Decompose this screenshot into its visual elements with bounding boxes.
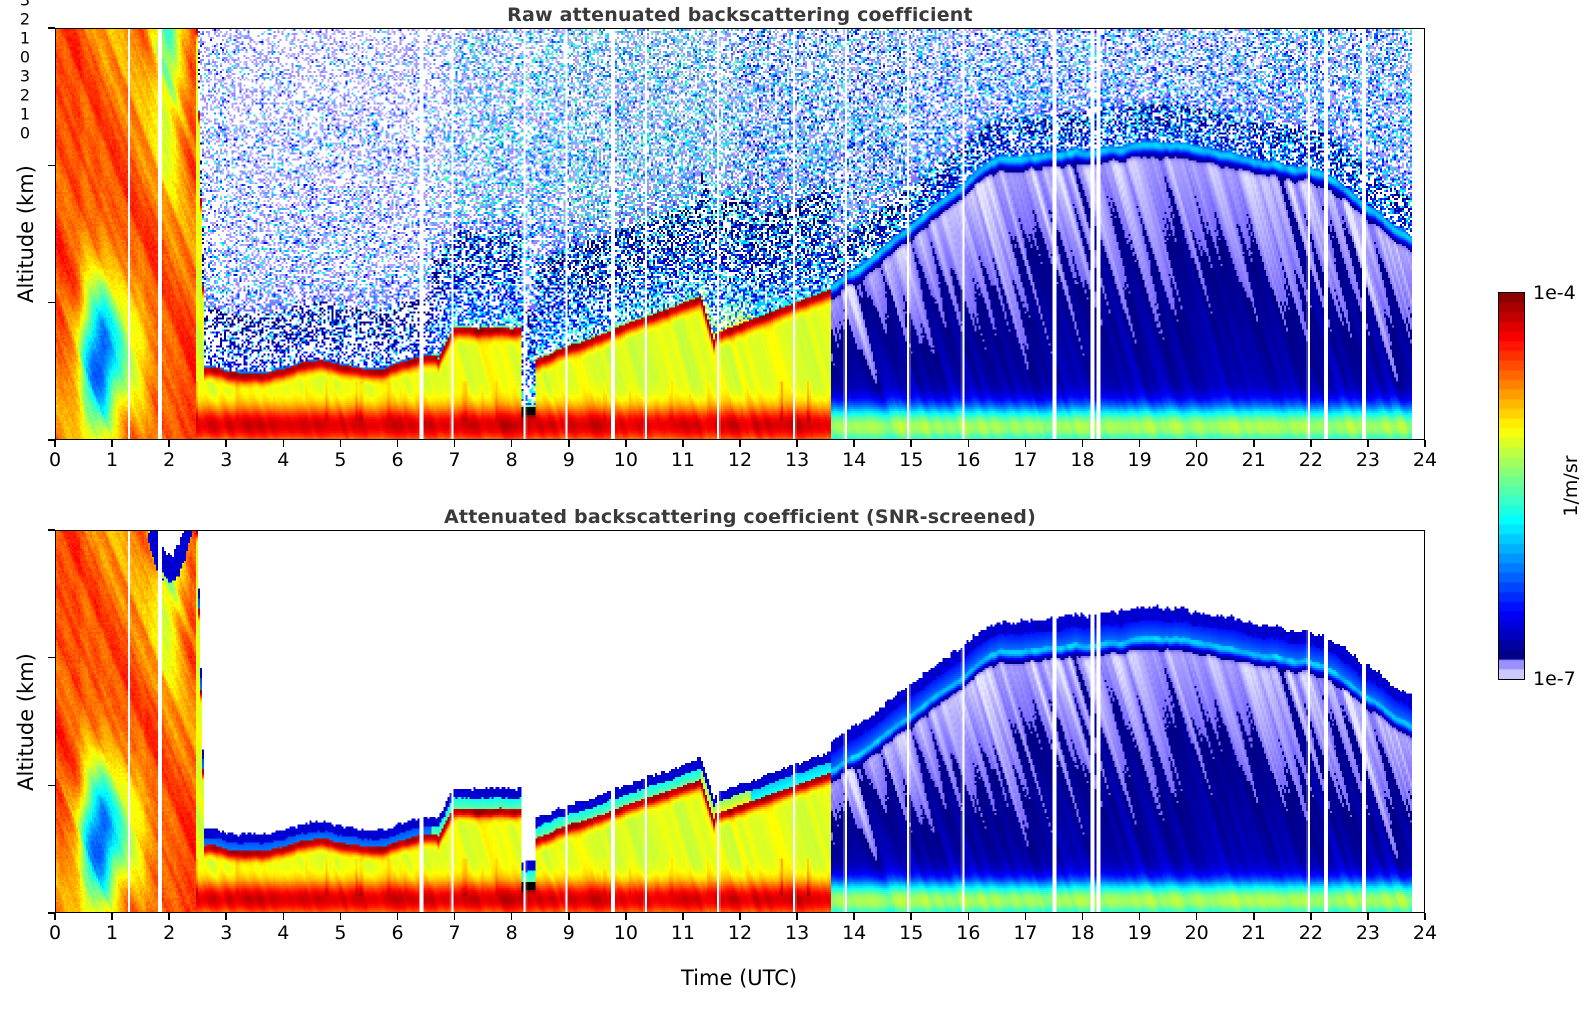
colorbar — [1498, 292, 1525, 680]
raw-xtick-9: 9 — [563, 449, 575, 471]
raw-xtickmark — [511, 440, 513, 447]
raw-xtick-24: 24 — [1413, 449, 1437, 471]
screened-xtickmark — [739, 913, 741, 920]
screened-xtickmark — [1424, 913, 1426, 920]
screened-ytickmark — [48, 657, 55, 659]
screened-xtickmark — [283, 913, 285, 920]
screened-ytick-2: 2 — [0, 86, 30, 105]
raw-xtick-15: 15 — [899, 449, 923, 471]
raw-ytick-3: 3 — [0, 0, 30, 10]
screened-xtickmark — [225, 913, 227, 920]
lidar-backscatter-figure: Raw attenuated backscattering coefficien… — [0, 0, 1595, 1020]
raw-xtickmark — [796, 440, 798, 447]
raw-panel-title: Raw attenuated backscattering coefficien… — [55, 4, 1425, 26]
screened-xtickmark — [625, 913, 627, 920]
raw-xtick-12: 12 — [728, 449, 752, 471]
raw-xtickmark — [568, 440, 570, 447]
screened-xtick-10: 10 — [614, 922, 638, 944]
screened-xtick-5: 5 — [334, 922, 346, 944]
raw-xtickmark — [168, 440, 170, 447]
screened-xtick-19: 19 — [1127, 922, 1151, 944]
raw-xtickmark — [225, 440, 227, 447]
screened-ytick-3: 3 — [0, 67, 30, 86]
screened-xtick-21: 21 — [1242, 922, 1266, 944]
raw-ytick-2: 2 — [0, 10, 30, 29]
raw-xtick-21: 21 — [1242, 449, 1266, 471]
screened-xtick-12: 12 — [728, 922, 752, 944]
screened-xtick-1: 1 — [106, 922, 118, 944]
raw-ytick-0: 0 — [0, 48, 30, 67]
colorbar-max-label: 1e-4 — [1533, 282, 1576, 304]
raw-xtickmark — [853, 440, 855, 447]
raw-xtick-10: 10 — [614, 449, 638, 471]
screened-xtick-23: 23 — [1356, 922, 1380, 944]
raw-xtick-3: 3 — [220, 449, 232, 471]
raw-xtickmark — [1139, 440, 1141, 447]
raw-xtickmark — [397, 440, 399, 447]
screened-panel-heatmap — [56, 531, 1424, 912]
screened-xtick-0: 0 — [49, 922, 61, 944]
raw-ytick-1: 1 — [0, 29, 30, 48]
raw-xtick-13: 13 — [785, 449, 809, 471]
screened-xtick-13: 13 — [785, 922, 809, 944]
raw-xtickmark — [910, 440, 912, 447]
screened-xtickmark — [853, 913, 855, 920]
raw-xtickmark — [340, 440, 342, 447]
raw-xtickmark — [1196, 440, 1198, 447]
screened-panel-axes — [55, 530, 1425, 913]
screened-xtick-22: 22 — [1299, 922, 1323, 944]
raw-xtickmark — [1082, 440, 1084, 447]
screened-ytick-1: 1 — [0, 105, 30, 124]
raw-xtickmark — [1310, 440, 1312, 447]
raw-xtickmark — [283, 440, 285, 447]
screened-xtick-4: 4 — [277, 922, 289, 944]
screened-xtick-11: 11 — [671, 922, 695, 944]
raw-panel-axes — [55, 28, 1425, 440]
screened-xtickmark — [682, 913, 684, 920]
screened-xtickmark — [340, 913, 342, 920]
screened-xtick-3: 3 — [220, 922, 232, 944]
screened-xtick-20: 20 — [1185, 922, 1209, 944]
screened-xtick-17: 17 — [1013, 922, 1037, 944]
raw-xtickmark — [1253, 440, 1255, 447]
screened-xtickmark — [111, 913, 113, 920]
raw-ytickmark — [48, 302, 55, 304]
screened-xtickmark — [1139, 913, 1141, 920]
screened-xtick-24: 24 — [1413, 922, 1437, 944]
colorbar-min-label: 1e-7 — [1533, 668, 1576, 690]
screened-xtickmark — [1367, 913, 1369, 920]
raw-panel-heatmap — [56, 29, 1424, 439]
raw-ytickmark — [48, 165, 55, 167]
screened-xtick-15: 15 — [899, 922, 923, 944]
screened-panel-ylabel: Altitude (km) — [14, 653, 38, 791]
screened-xtick-9: 9 — [563, 922, 575, 944]
screened-xtickmark — [1025, 913, 1027, 920]
screened-xtick-18: 18 — [1070, 922, 1094, 944]
screened-xtickmark — [511, 913, 513, 920]
screened-xtickmark — [1196, 913, 1198, 920]
raw-xtick-20: 20 — [1185, 449, 1209, 471]
raw-xtick-7: 7 — [449, 449, 461, 471]
raw-xtickmark — [111, 440, 113, 447]
raw-xtickmark — [1424, 440, 1426, 447]
raw-xtickmark — [739, 440, 741, 447]
screened-xtickmark — [1082, 913, 1084, 920]
raw-xtickmark — [968, 440, 970, 447]
screened-xtickmark — [910, 913, 912, 920]
screened-xtickmark — [968, 913, 970, 920]
colorbar-unit-label: 1/m/sr — [1560, 455, 1582, 516]
screened-panel-title: Attenuated backscattering coefficient (S… — [55, 506, 1425, 528]
screened-xtickmark — [397, 913, 399, 920]
screened-xtickmark — [54, 913, 56, 920]
raw-xtick-4: 4 — [277, 449, 289, 471]
screened-xtick-8: 8 — [506, 922, 518, 944]
screened-ytick-0: 0 — [0, 124, 30, 143]
raw-xtickmark — [54, 440, 56, 447]
raw-ytickmark — [48, 27, 55, 29]
raw-ytickmark — [48, 439, 55, 441]
screened-ytickmark — [48, 785, 55, 787]
screened-xtickmark — [168, 913, 170, 920]
screened-panel-xlabel: Time (UTC) — [681, 966, 797, 990]
screened-xtickmark — [1310, 913, 1312, 920]
raw-xtick-11: 11 — [671, 449, 695, 471]
screened-ytickmark — [48, 912, 55, 914]
raw-xtickmark — [1025, 440, 1027, 447]
raw-xtickmark — [682, 440, 684, 447]
screened-ytickmark — [48, 529, 55, 531]
raw-xtick-14: 14 — [842, 449, 866, 471]
raw-xtick-18: 18 — [1070, 449, 1094, 471]
raw-xtickmark — [1367, 440, 1369, 447]
screened-xtick-6: 6 — [391, 922, 403, 944]
raw-xtick-6: 6 — [391, 449, 403, 471]
raw-xtickmark — [454, 440, 456, 447]
colorbar-gradient — [1499, 293, 1524, 679]
raw-xtick-23: 23 — [1356, 449, 1380, 471]
raw-panel-ylabel: Altitude (km) — [14, 165, 38, 303]
raw-xtick-5: 5 — [334, 449, 346, 471]
screened-xtick-7: 7 — [449, 922, 461, 944]
raw-xtick-8: 8 — [506, 449, 518, 471]
raw-xtick-16: 16 — [956, 449, 980, 471]
screened-xtick-14: 14 — [842, 922, 866, 944]
raw-xtickmark — [625, 440, 627, 447]
screened-xtick-2: 2 — [163, 922, 175, 944]
screened-xtickmark — [1253, 913, 1255, 920]
raw-xtick-0: 0 — [49, 449, 61, 471]
screened-xtickmark — [796, 913, 798, 920]
raw-xtick-2: 2 — [163, 449, 175, 471]
screened-xtickmark — [568, 913, 570, 920]
raw-xtick-19: 19 — [1127, 449, 1151, 471]
raw-xtick-22: 22 — [1299, 449, 1323, 471]
screened-xtickmark — [454, 913, 456, 920]
raw-xtick-17: 17 — [1013, 449, 1037, 471]
screened-xtick-16: 16 — [956, 922, 980, 944]
raw-xtick-1: 1 — [106, 449, 118, 471]
